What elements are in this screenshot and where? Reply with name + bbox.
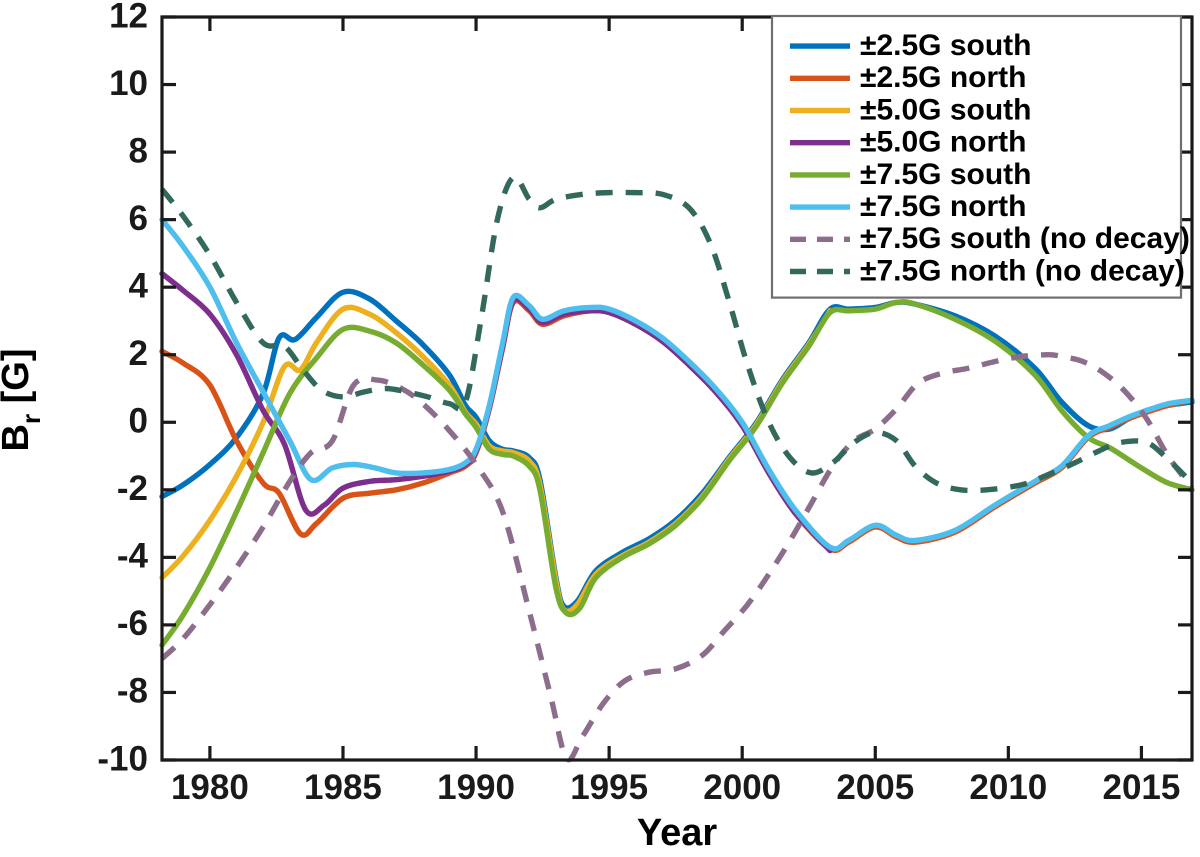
y-tick-label: 2 — [129, 334, 148, 373]
x-tick-label: 2015 — [1102, 768, 1180, 807]
y-tick-label: 0 — [129, 402, 148, 441]
chart-canvas: -10-8-6-4-202468101219801985199019952000… — [0, 0, 1200, 857]
chart-legend[interactable]: ±2.5G south±2.5G north±5.0G south±5.0G n… — [772, 16, 1190, 298]
x-tick-label: 1995 — [570, 768, 648, 807]
legend-label-1[interactable]: ±2.5G north — [860, 61, 1026, 94]
x-tick-label: 1990 — [437, 768, 515, 807]
chart-figure: -10-8-6-4-202468101219801985199019952000… — [0, 0, 1200, 857]
legend-label-5[interactable]: ±7.5G north — [860, 190, 1026, 223]
y-tick-label: -2 — [117, 469, 148, 508]
legend-label-3[interactable]: ±5.0G north — [860, 126, 1026, 159]
y-tick-label: 12 — [109, 0, 148, 35]
y-axis-title-subscript: r — [16, 414, 46, 424]
svg-text:Br [G]: Br [G] — [0, 348, 46, 451]
y-tick-label: -8 — [117, 672, 148, 711]
x-tick-label: 2000 — [703, 768, 781, 807]
x-tick-label: 1980 — [171, 768, 249, 807]
y-tick-label: 10 — [109, 64, 148, 103]
y-tick-label: -6 — [117, 604, 148, 643]
x-axis-title: Year — [637, 812, 718, 854]
y-axis-title-base: B — [0, 424, 37, 451]
legend-label-4[interactable]: ±7.5G south — [860, 158, 1032, 191]
y-axis-title: Br [G] — [0, 348, 46, 451]
legend-label-7[interactable]: ±7.5G north (no decay) — [860, 254, 1185, 287]
x-tick-label: 1985 — [304, 768, 382, 807]
y-tick-label: 6 — [129, 199, 148, 238]
y-tick-label: -10 — [97, 739, 148, 778]
y-tick-label: 4 — [129, 266, 149, 305]
y-tick-label: -4 — [117, 537, 149, 576]
y-axis-title-unit: [G] — [0, 348, 37, 403]
legend-label-6[interactable]: ±7.5G south (no decay) — [860, 222, 1190, 255]
x-tick-label: 2010 — [969, 768, 1047, 807]
legend-label-0[interactable]: ±2.5G south — [860, 29, 1032, 62]
y-tick-label: 8 — [129, 131, 148, 170]
x-tick-label: 2005 — [836, 768, 914, 807]
legend-label-2[interactable]: ±5.0G south — [860, 93, 1032, 126]
